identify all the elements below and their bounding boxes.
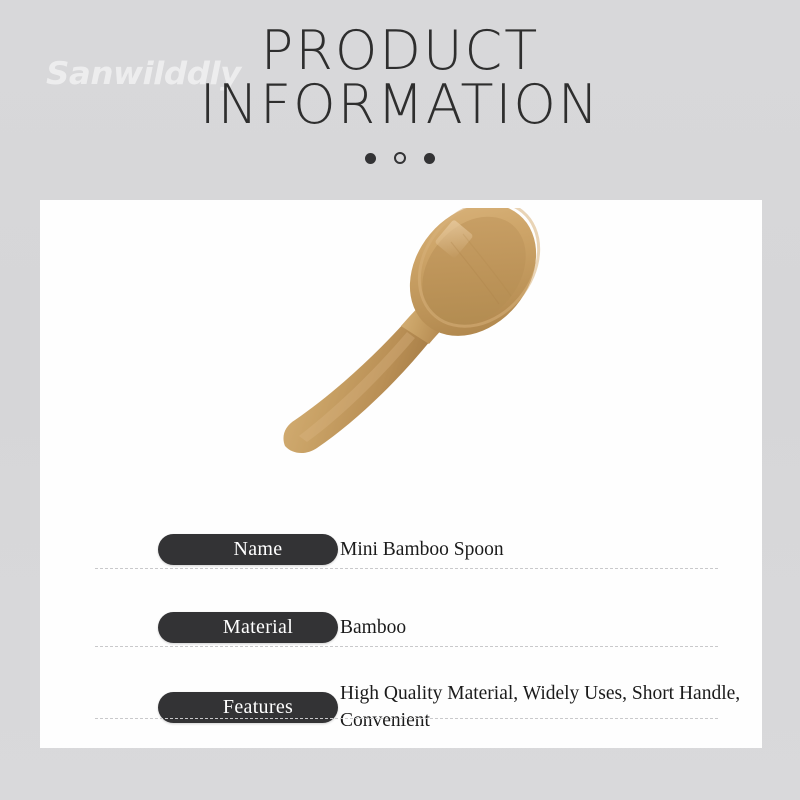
product-information-page: Sanwilddly PRODUCT INFORMATION [0,0,800,800]
spec-label-name: Name [234,539,283,559]
row-divider-1 [95,568,718,569]
page-title-line-1: PRODUCT [0,24,800,78]
product-image-area [40,200,762,500]
spec-value-material: Bamboo [340,615,762,640]
table-row-name: Name Mini Bamboo Spoon [40,510,762,588]
dot-hollow-center [394,152,406,164]
content-card: Name Mini Bamboo Spoon Material Bamboo F… [40,200,762,748]
dot-filled-left [365,153,376,164]
row-divider-3 [95,718,718,719]
spec-label-pill-name: Name [158,534,338,565]
spec-label-pill-material: Material [158,612,338,643]
dot-filled-right [424,153,435,164]
spoon-handle-highlight [299,332,415,442]
row-divider-2 [95,646,718,647]
table-row-material: Material Bamboo [40,588,762,666]
table-row-features: Features High Quality Material, Widely U… [40,666,762,748]
spec-table: Name Mini Bamboo Spoon Material Bamboo F… [40,510,762,748]
spec-value-features: High Quality Material, Widely Uses, Shor… [340,680,762,734]
spec-value-name: Mini Bamboo Spoon [340,537,762,562]
bamboo-spoon-icon [255,208,555,488]
decorative-dots [0,152,800,164]
spec-label-features: Features [223,697,293,717]
spec-label-material: Material [223,617,293,637]
page-title-line-2: INFORMATION [0,78,800,132]
page-header: PRODUCT INFORMATION [0,0,800,200]
